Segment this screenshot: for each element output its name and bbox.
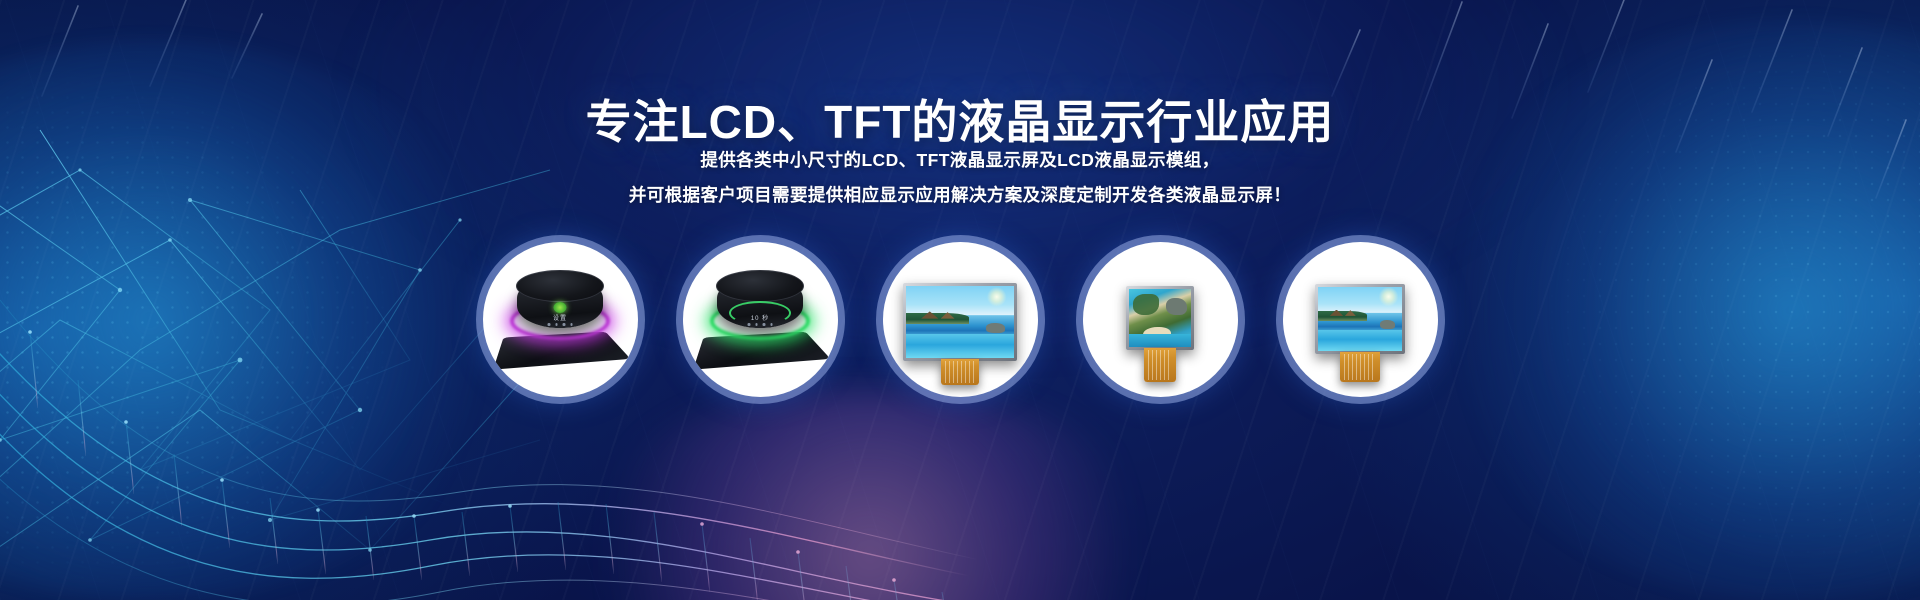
product-circle-tft-panel-wide-7inch[interactable] bbox=[883, 242, 1038, 397]
screen-image-aerial-coast bbox=[1129, 289, 1191, 347]
product-showcase: 设置 10 秒 bbox=[0, 242, 1920, 397]
device-screen-label: 10 秒 bbox=[751, 313, 769, 322]
banner-subtitle: 提供各类中小尺寸的LCD、TFT液晶显示屏及LCD液晶显示模组， 并可根据客户项… bbox=[0, 143, 1920, 213]
device-top-screen-icon: 10 秒 bbox=[716, 270, 804, 302]
fpc-ribbon-cable-icon bbox=[1144, 348, 1176, 382]
hero-banner: 专注LCD、TFT的液晶显示行业应用 提供各类中小尺寸的LCD、TFT液晶显示屏… bbox=[0, 0, 1920, 600]
device-indicator-leds-icon bbox=[748, 323, 773, 326]
subtitle-line-1: 提供各类中小尺寸的LCD、TFT液晶显示屏及LCD液晶显示模组， bbox=[0, 143, 1920, 178]
product-circle-tft-panel-square-3p5inch[interactable] bbox=[1083, 242, 1238, 397]
device-screen-logo-icon bbox=[554, 302, 567, 313]
device-indicator-leds-icon bbox=[548, 323, 573, 326]
page-title: 专注LCD、TFT的液晶显示行业应用 bbox=[0, 97, 1920, 148]
product-circle-round-smart-display-purple[interactable]: 设置 bbox=[483, 242, 638, 397]
tft-panel-icon bbox=[903, 283, 1017, 361]
fpc-ribbon-cable-icon bbox=[1340, 352, 1380, 382]
banner-content: 专注LCD、TFT的液晶显示行业应用 提供各类中小尺寸的LCD、TFT液晶显示屏… bbox=[0, 0, 1920, 600]
screen-image-beach-resort bbox=[1318, 287, 1402, 351]
subtitle-line-2: 并可根据客户项目需要提供相应显示应用解决方案及深度定制开发各类液晶显示屏！ bbox=[0, 178, 1920, 213]
product-circle-round-smart-display-green[interactable]: 10 秒 bbox=[683, 242, 838, 397]
tft-panel-icon bbox=[1126, 286, 1194, 350]
fpc-ribbon-cable-icon bbox=[941, 359, 979, 385]
screen-image-beach-resort bbox=[906, 286, 1014, 358]
tft-panel-icon bbox=[1315, 284, 1405, 354]
device-screen-label: 设置 bbox=[553, 313, 567, 322]
product-circle-tft-panel-wide-4p3inch[interactable] bbox=[1283, 242, 1438, 397]
device-top-screen-icon: 设置 bbox=[516, 270, 604, 302]
